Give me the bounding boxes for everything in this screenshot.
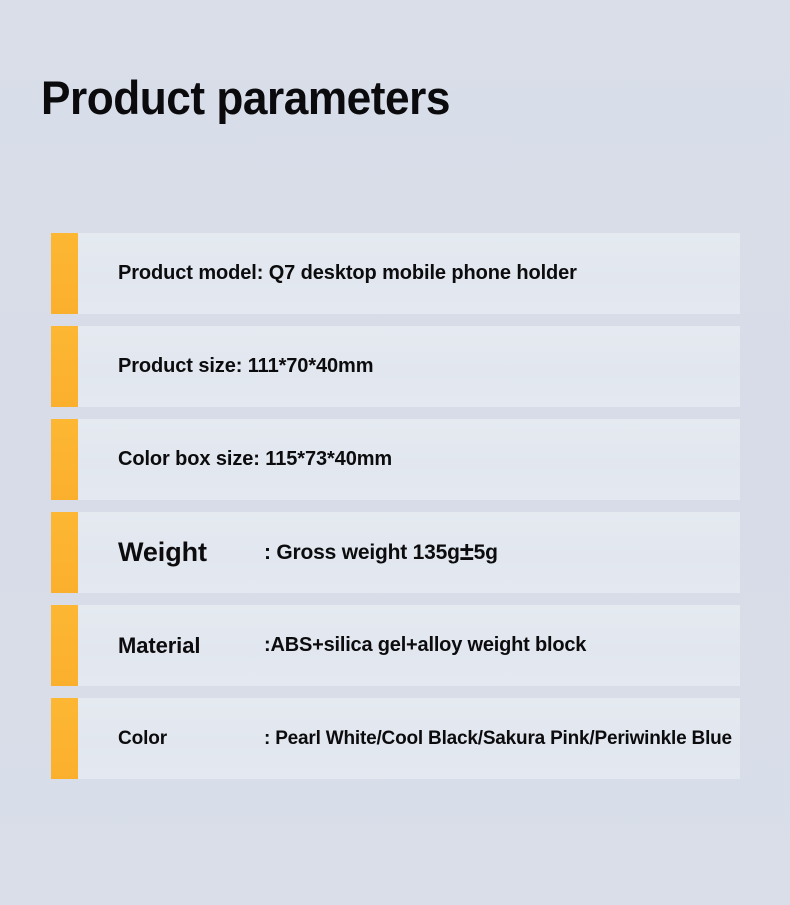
parameters-list: Product model: Q7 desktop mobile phone h… <box>51 233 740 791</box>
parameter-value: :ABS+silica gel+alloy weight block <box>264 634 586 657</box>
parameter-label: Weight <box>118 537 207 568</box>
parameter-value: : Gross weight 135g±5g <box>264 541 498 565</box>
parameter-text: Product model: Q7 desktop mobile phone h… <box>78 262 577 285</box>
parameter-row-body: Weight : Gross weight 135g±5g <box>78 512 740 593</box>
accent-bar-icon <box>51 233 78 314</box>
parameter-row-product-model: Product model: Q7 desktop mobile phone h… <box>51 233 740 314</box>
parameter-row-body: Product size: 111*70*40mm <box>78 326 740 407</box>
parameter-row-body: Material :ABS+silica gel+alloy weight bl… <box>78 605 740 686</box>
parameter-row-weight: Weight : Gross weight 135g±5g <box>51 512 740 593</box>
accent-bar-icon <box>51 512 78 593</box>
accent-bar-icon <box>51 605 78 686</box>
accent-bar-icon <box>51 698 78 779</box>
parameter-value: : Pearl White/Cool Black/Sakura Pink/Per… <box>264 728 732 750</box>
parameter-text: Color box size: 115*73*40mm <box>78 448 392 471</box>
parameter-value-prefix: : Gross weight 135g <box>264 541 460 564</box>
parameter-label: Material <box>118 633 200 659</box>
product-parameters-page: Product parameters Product model: Q7 des… <box>0 0 790 905</box>
accent-bar-icon <box>51 326 78 407</box>
parameter-row-color-box-size: Color box size: 115*73*40mm <box>51 419 740 500</box>
parameter-row-body: Color : Pearl White/Cool Black/Sakura Pi… <box>78 698 740 779</box>
accent-bar-icon <box>51 419 78 500</box>
parameter-row-material: Material :ABS+silica gel+alloy weight bl… <box>51 605 740 686</box>
parameter-label: Color <box>118 728 167 750</box>
plus-minus-icon: ± <box>460 542 474 563</box>
page-title: Product parameters <box>41 72 450 124</box>
parameter-value-suffix: 5g <box>474 541 498 564</box>
parameter-text: Product size: 111*70*40mm <box>78 355 373 378</box>
parameter-row-product-size: Product size: 111*70*40mm <box>51 326 740 407</box>
parameter-row-color: Color : Pearl White/Cool Black/Sakura Pi… <box>51 698 740 779</box>
parameter-row-body: Color box size: 115*73*40mm <box>78 419 740 500</box>
parameter-row-body: Product model: Q7 desktop mobile phone h… <box>78 233 740 314</box>
